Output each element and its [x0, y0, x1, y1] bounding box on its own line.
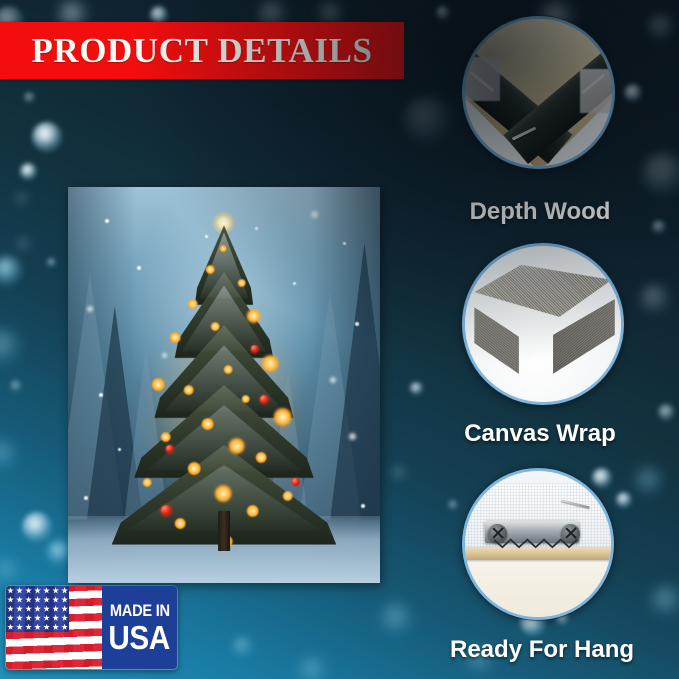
bokeh-light	[32, 122, 62, 152]
bokeh-light	[10, 380, 22, 392]
product-canvas-image	[68, 187, 380, 583]
bokeh-light	[652, 586, 679, 616]
snowflake	[205, 235, 208, 238]
product-details-infographic: PRODUCT DETAILS	[0, 0, 679, 679]
snowflake	[137, 266, 141, 270]
tree-light	[273, 408, 291, 426]
bokeh-light	[0, 442, 16, 468]
bokeh-light	[24, 92, 35, 103]
bokeh-light	[232, 636, 254, 658]
feature-ready-for-hang: Ready For Hang	[450, 468, 630, 673]
feature-label-depth-wood: Depth Wood	[455, 198, 625, 226]
tree-light	[246, 505, 258, 517]
gray-canvas-wrapped-corner-icon	[465, 246, 621, 402]
snowflake	[355, 322, 359, 326]
tree-light	[188, 299, 198, 309]
bokeh-light	[17, 238, 30, 251]
tree-light	[206, 265, 215, 274]
us-flag-icon	[6, 586, 102, 669]
usa-label: USA	[109, 621, 170, 654]
snowflake	[349, 433, 356, 440]
canvas-fold	[580, 69, 615, 113]
bokeh-light	[22, 512, 52, 542]
depth-wood-image	[462, 16, 615, 169]
bokeh-light	[636, 468, 662, 494]
christmas-tree	[112, 219, 337, 552]
tree-light	[152, 378, 165, 391]
snowflake	[162, 353, 167, 358]
bokeh-light	[0, 330, 20, 364]
canvas-frame-corner-wood-staples-icon	[465, 19, 612, 166]
bokeh-light	[410, 382, 423, 395]
feature-label-canvas-wrap: Canvas Wrap	[455, 420, 625, 448]
bokeh-light	[404, 96, 452, 144]
bokeh-light	[658, 404, 675, 421]
bokeh-light	[652, 220, 666, 234]
tree-light	[255, 452, 266, 463]
feature-depth-wood: Depth Wood	[455, 16, 625, 231]
tree-ornament	[291, 478, 299, 486]
flag-wave-shading	[6, 586, 102, 669]
made-in-usa-text-panel: MADE IN USA	[102, 586, 177, 669]
bokeh-light	[648, 14, 674, 40]
bokeh-light	[0, 560, 18, 582]
bokeh-light	[0, 256, 22, 286]
bokeh-light	[642, 152, 679, 196]
made-in-label: MADE IN	[109, 602, 169, 619]
tree-trunk	[218, 511, 229, 551]
bokeh-light	[392, 466, 406, 480]
snowflake	[293, 282, 296, 285]
snowflake	[255, 227, 258, 230]
sawtooth-hanger-screws-icon	[465, 471, 611, 617]
ready-for-hang-image	[462, 468, 614, 620]
tree-light	[202, 418, 214, 430]
banner-title: PRODUCT DETAILS	[31, 31, 372, 71]
bokeh-light	[16, 193, 28, 205]
feature-canvas-wrap: Canvas Wrap	[455, 243, 625, 458]
snowflake	[87, 306, 93, 312]
canvas-fold	[462, 57, 500, 101]
bokeh-light	[436, 6, 450, 20]
bokeh-light	[624, 84, 642, 102]
bokeh-light	[47, 258, 56, 267]
tree-light	[246, 309, 260, 323]
bokeh-light	[300, 658, 326, 679]
sawtooth-teeth-icon	[494, 538, 577, 550]
feature-label-ready-for-hang: Ready For Hang	[450, 636, 630, 664]
canvas-wrap-image	[462, 243, 624, 405]
tree-light	[228, 438, 244, 454]
bokeh-light	[322, 4, 340, 22]
tree-light	[282, 491, 292, 501]
snowflake	[84, 496, 88, 500]
made-in-usa-badge: MADE IN USA	[5, 585, 178, 670]
tree-light	[237, 279, 245, 287]
bokeh-light	[20, 163, 37, 180]
canvas-face	[465, 562, 611, 617]
tree-light	[143, 478, 152, 487]
product-details-banner: PRODUCT DETAILS	[0, 22, 404, 79]
tree-light	[220, 245, 227, 252]
bokeh-light	[640, 284, 670, 314]
bokeh-light	[382, 604, 412, 634]
tree-light	[211, 322, 220, 331]
tree-light	[262, 355, 279, 372]
